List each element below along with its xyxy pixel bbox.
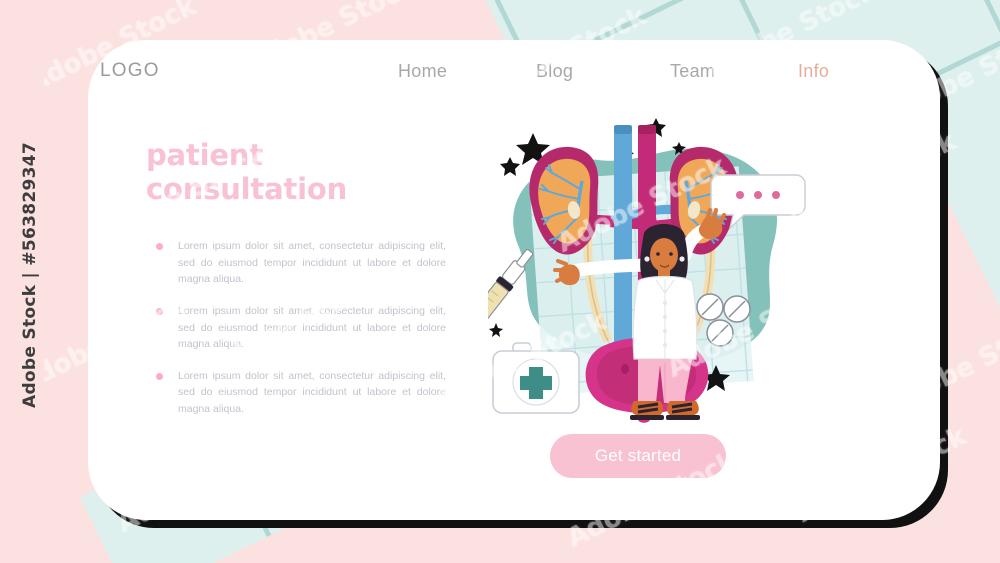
- hero-illustration: [488, 115, 818, 425]
- list-item: Lorem ipsum dolor sit amet, consectetur …: [146, 303, 446, 352]
- kidney-consultation-illustration: [488, 115, 818, 425]
- get-started-button[interactable]: Get started: [550, 434, 726, 478]
- bullet-dot-icon: [156, 308, 163, 315]
- headline-line-2: consultation: [146, 172, 446, 206]
- page-title: patient consultation: [146, 138, 446, 206]
- logo[interactable]: LOGO: [100, 60, 160, 82]
- first-aid-kit-icon: [493, 343, 579, 413]
- nav-link-blog[interactable]: Blog: [536, 61, 573, 82]
- list-item: Lorem ipsum dolor sit amet, consectetur …: [146, 238, 446, 287]
- headline-line-1: patient: [146, 138, 446, 172]
- list-item-text: Lorem ipsum dolor sit amet, consectetur …: [178, 368, 446, 417]
- bullet-dot-icon: [156, 243, 163, 250]
- bullet-dot-icon: [156, 373, 163, 380]
- list-item-text: Lorem ipsum dolor sit amet, consectetur …: [178, 238, 446, 287]
- feature-bullet-list: Lorem ipsum dolor sit amet, consectetur …: [146, 238, 446, 416]
- nav-link-team[interactable]: Team: [670, 61, 715, 82]
- watermark-label: Adobe Stock | #563829347: [20, 15, 40, 535]
- list-item: Lorem ipsum dolor sit amet, consectetur …: [146, 368, 446, 417]
- nav-link-info[interactable]: Info: [798, 61, 829, 82]
- list-item-text: Lorem ipsum dolor sit amet, consectetur …: [178, 303, 446, 352]
- screenshot-root: LOGO Home Blog Team Info patient consult…: [0, 0, 1000, 563]
- nav-link-home[interactable]: Home: [398, 61, 447, 82]
- landing-page-card: LOGO Home Blog Team Info patient consult…: [88, 40, 940, 520]
- watermark-sidebar: Adobe Stock | #563829347: [0, 0, 44, 563]
- hero-text-column: patient consultation Lorem ipsum dolor s…: [146, 138, 446, 433]
- navbar: LOGO Home Blog Team Info: [88, 40, 940, 102]
